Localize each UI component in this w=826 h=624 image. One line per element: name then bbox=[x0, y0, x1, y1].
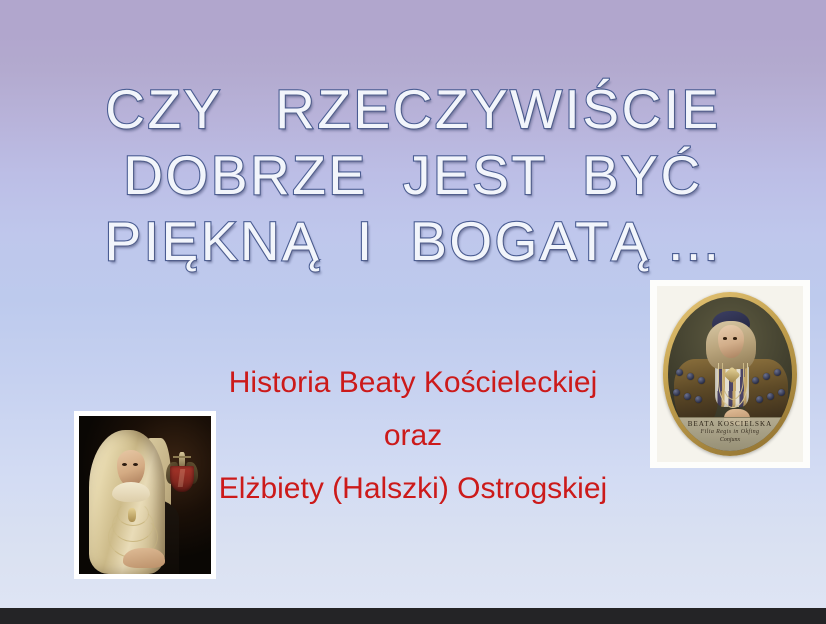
beata-inscription-line-1: BEATA KOSCIELSKA bbox=[676, 420, 784, 428]
coat-of-arms-shield bbox=[170, 466, 194, 492]
beata-pearl bbox=[752, 377, 759, 384]
beata-oval-painting: BEATA KOSCIELSKA Filia Regis in Okfing C… bbox=[668, 297, 792, 451]
beata-pearl bbox=[676, 369, 683, 376]
beata-inscription-line-2: Filia Regis in Okfing bbox=[676, 428, 784, 436]
beata-pearl-row bbox=[752, 369, 792, 377]
halszka-eye-left bbox=[122, 463, 127, 466]
portrait-halszka-canvas bbox=[79, 416, 211, 574]
beata-pearl bbox=[774, 369, 781, 376]
bottom-chrome-bar bbox=[0, 608, 826, 624]
beata-eye-left bbox=[723, 337, 727, 340]
halszka-hands bbox=[123, 548, 165, 568]
beata-pearl bbox=[687, 373, 694, 380]
beata-pearl bbox=[763, 373, 770, 380]
portrait-beata-koscielecka: BEATA KOSCIELSKA Filia Regis in Okfing C… bbox=[650, 280, 810, 468]
beata-inscription-plaque: BEATA KOSCIELSKA Filia Regis in Okfing C… bbox=[676, 417, 784, 451]
halszka-coat-of-arms bbox=[167, 452, 197, 494]
beata-pearl-row bbox=[673, 389, 713, 397]
presentation-slide: CZY RZECZYWIŚCIE DOBRZE JEST BYĆ PIĘKNĄ … bbox=[0, 0, 826, 624]
beata-pearl bbox=[756, 396, 763, 403]
beata-inscription-line-3: Conjunx bbox=[676, 436, 784, 444]
title-line-1: CZY RZECZYWIŚCIE bbox=[0, 76, 826, 142]
coat-of-arms-crest bbox=[173, 456, 191, 458]
beata-pearl bbox=[778, 389, 785, 396]
title-line-2: DOBRZE JEST BYĆ bbox=[0, 142, 826, 208]
beata-oval-gilt-frame: BEATA KOSCIELSKA Filia Regis in Okfing C… bbox=[663, 292, 797, 456]
halszka-pendant bbox=[128, 508, 136, 522]
beata-eye-right bbox=[733, 337, 737, 340]
portrait-halszka-ostrogska bbox=[74, 411, 216, 579]
portrait-beata-canvas: BEATA KOSCIELSKA Filia Regis in Okfing C… bbox=[657, 286, 803, 462]
slide-title: CZY RZECZYWIŚCIE DOBRZE JEST BYĆ PIĘKNĄ … bbox=[0, 76, 826, 274]
title-line-3: PIĘKNĄ I BOGATĄ ... bbox=[0, 208, 826, 274]
halszka-eye-right bbox=[133, 463, 138, 466]
halszka-collar bbox=[112, 482, 150, 502]
beata-pearl bbox=[767, 393, 774, 400]
beata-pearl bbox=[673, 389, 680, 396]
beata-pearl bbox=[684, 393, 691, 400]
beata-pearl-row bbox=[676, 369, 716, 377]
beata-pearl bbox=[698, 377, 705, 384]
beata-pearl-row bbox=[756, 389, 792, 397]
beata-pearl bbox=[695, 396, 702, 403]
halszka-face bbox=[117, 450, 145, 486]
